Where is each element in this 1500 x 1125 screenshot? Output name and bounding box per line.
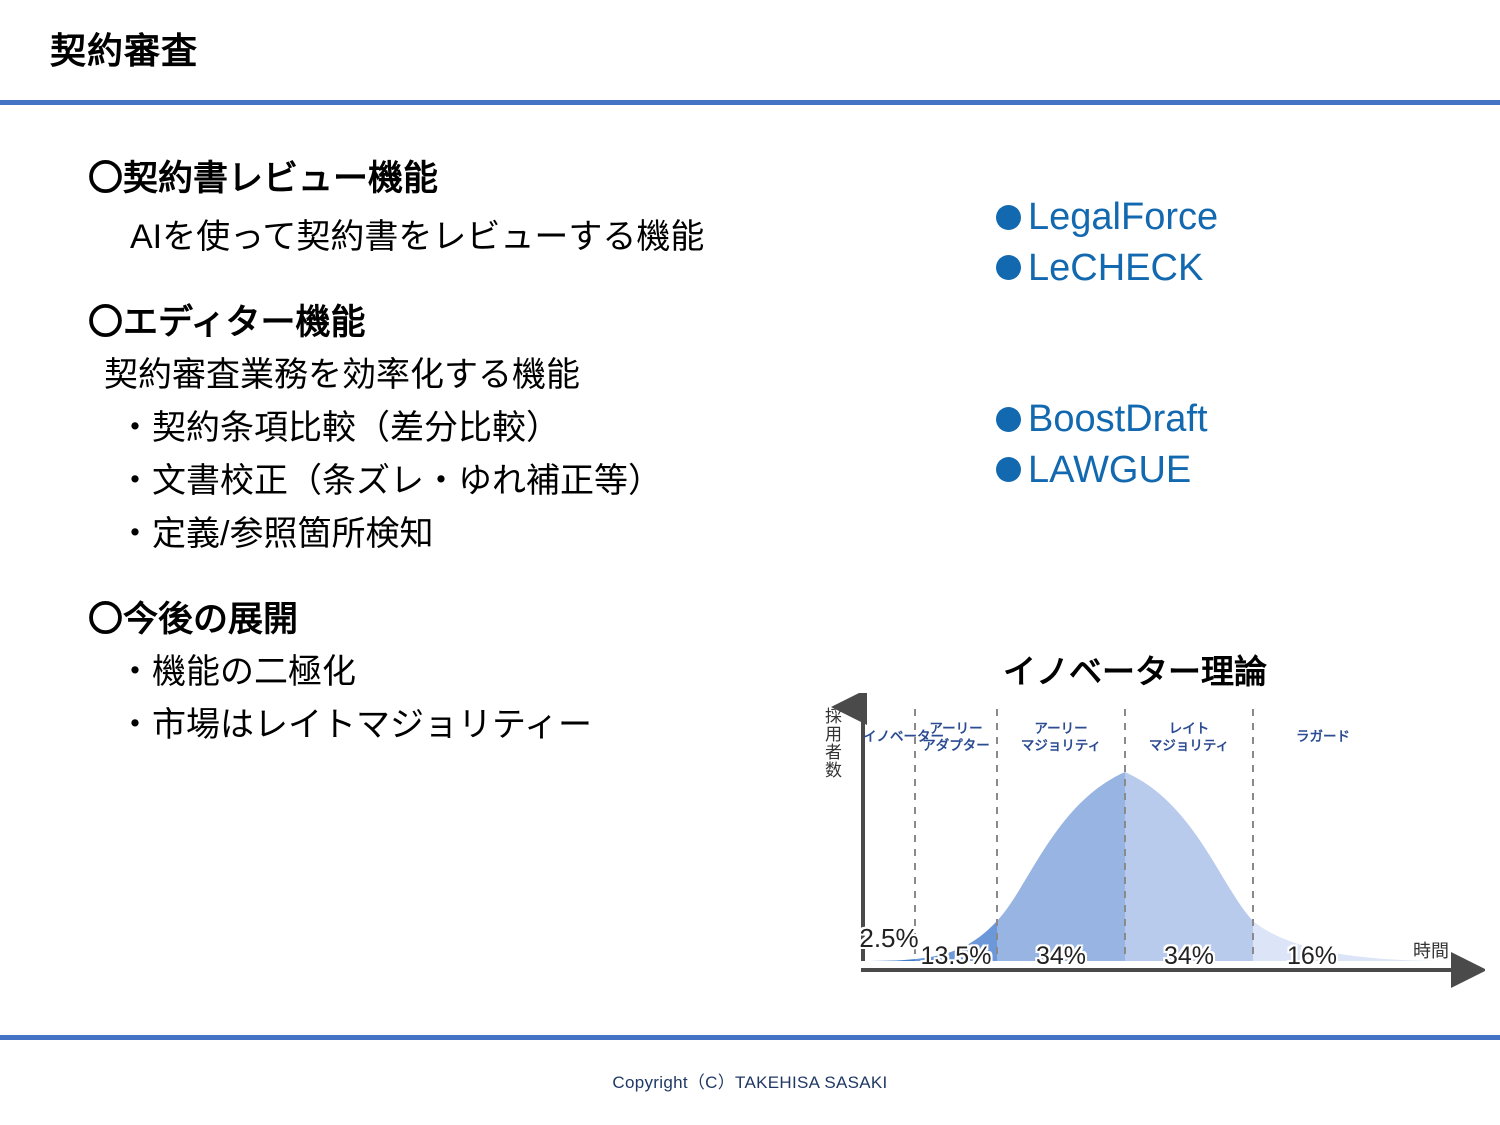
- bullet-dot-icon: [996, 205, 1021, 230]
- spacer: [88, 396, 908, 408]
- segment-label-innovator: イノベーター: [863, 729, 915, 746]
- product-list-editor-tools: BoostDraft LAWGUE: [996, 394, 1208, 495]
- spacer: [88, 449, 908, 461]
- section-1-line-1: AIを使って契約書をレビューする機能: [88, 217, 908, 258]
- section-3-bullet-1: ・機能の二極化: [88, 652, 908, 693]
- section-3-bullet-2: ・市場はレイトマジョリティー: [88, 705, 908, 746]
- section-2-line-1: 契約審査業務を効率化する機能: [88, 355, 908, 396]
- content-column: 〇契約書レビュー機能 AIを使って契約書をレビューする機能 〇エディター機能 契…: [88, 158, 908, 745]
- product-name: LeCHECK: [1028, 243, 1203, 294]
- page-title: 契約審査: [50, 22, 198, 74]
- segment-label-late-majority: レイト マジョリティ: [1125, 721, 1253, 755]
- section-2-bullet-3: ・定義/参照箇所検知: [88, 514, 908, 555]
- product-name: LegalForce: [1028, 192, 1218, 243]
- segment-percent-laggard: 16%: [1253, 942, 1371, 971]
- spacer: [88, 640, 908, 652]
- chart-title: イノベーター理論: [815, 645, 1455, 693]
- section-3-heading: 〇今後の展開: [88, 599, 908, 640]
- section-2-bullet-2: ・文書校正（条ズレ・ゆれ補正等）: [88, 461, 908, 502]
- section-2-heading: 〇エディター機能: [88, 302, 908, 343]
- header-divider: [0, 100, 1500, 105]
- spacer: [88, 199, 908, 217]
- product-name: BoostDraft: [1028, 394, 1208, 445]
- footer-divider: [0, 1035, 1500, 1040]
- spacer: [88, 693, 908, 705]
- spacer: [88, 555, 908, 599]
- innovator-theory-chart: イノベーター理論 採用者数 時間: [815, 645, 1485, 1005]
- list-item: BoostDraft: [996, 394, 1208, 445]
- product-name: LAWGUE: [1028, 445, 1191, 496]
- bullet-dot-icon: [996, 407, 1021, 432]
- slide-root: 契約審査 〇契約書レビュー機能 AIを使って契約書をレビューする機能 〇エディタ…: [0, 0, 1500, 1125]
- list-item: LAWGUE: [996, 445, 1208, 496]
- spacer: [88, 502, 908, 514]
- list-item: LeCHECK: [996, 243, 1218, 294]
- bullet-dot-icon: [996, 255, 1021, 280]
- segment-label-early-adopter: アーリー アダプター: [915, 721, 997, 755]
- list-item: LegalForce: [996, 192, 1218, 243]
- spacer: [88, 343, 908, 355]
- bullet-dot-icon: [996, 457, 1021, 482]
- copyright-text: Copyright（C）TAKEHISA SASAKI: [0, 1068, 1500, 1093]
- section-1-heading: 〇契約書レビュー機能: [88, 158, 908, 199]
- chart-curve-area: [863, 772, 1451, 961]
- segment-label-laggard: ラガード: [1253, 729, 1393, 746]
- segment-percent-late-majority: 34%: [1125, 942, 1253, 971]
- segment-label-early-majority: アーリー マジョリティ: [997, 721, 1125, 755]
- product-list-review-tools: LegalForce LeCHECK: [996, 192, 1218, 293]
- segment-percent-early-majority: 34%: [997, 942, 1125, 971]
- segment-area-late-majority: [863, 772, 1451, 961]
- segment-percent-early-adopter: 13.5%: [915, 942, 997, 971]
- spacer: [88, 258, 908, 302]
- section-2-bullet-1: ・契約条項比較（差分比較）: [88, 408, 908, 449]
